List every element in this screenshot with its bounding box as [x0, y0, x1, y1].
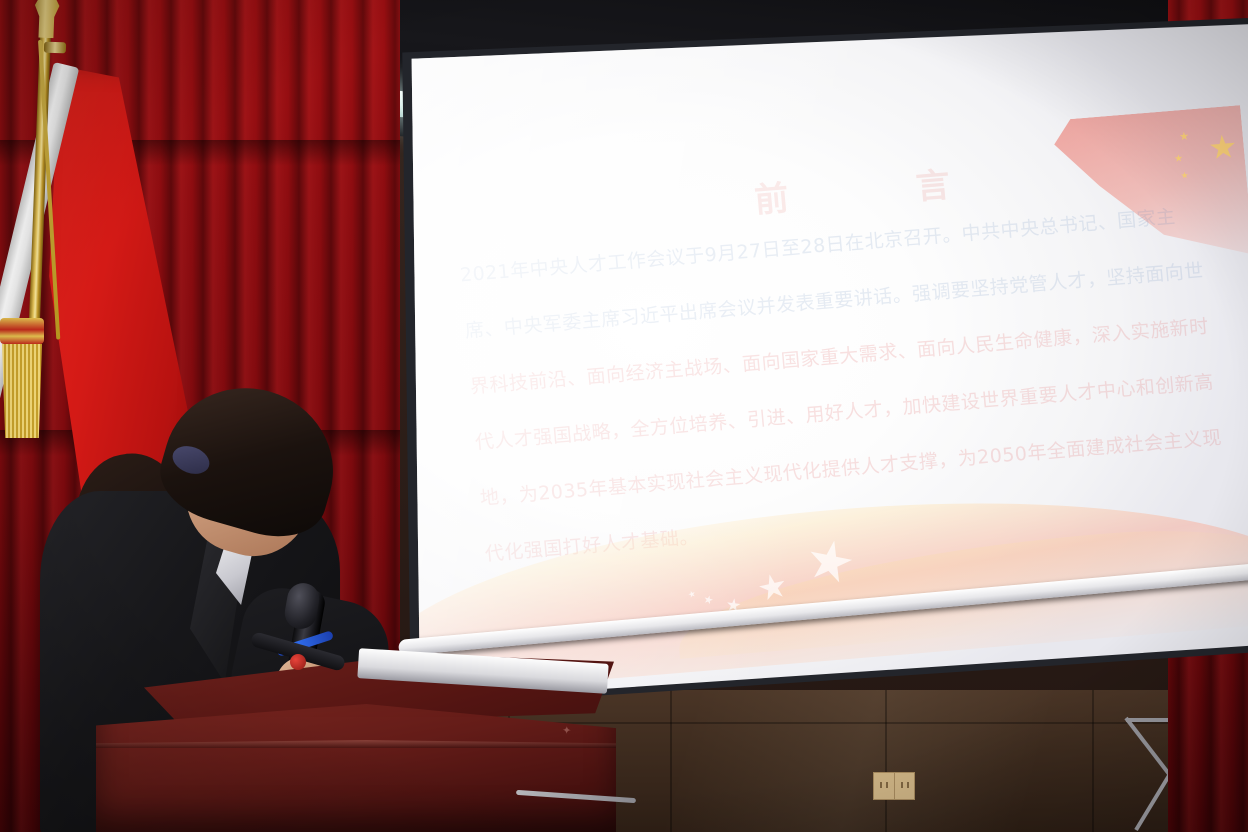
flag-finial-ring	[44, 42, 66, 54]
flag-star-small-icon	[1174, 154, 1183, 163]
podium-emblem: ✦	[562, 724, 573, 738]
panel-seam-vertical	[670, 690, 672, 832]
tassel-skirt	[2, 344, 42, 438]
podium-front-panel	[96, 704, 616, 832]
wooden-podium: ✦	[96, 648, 616, 832]
panel-seam-vertical	[1092, 690, 1094, 832]
tassel-head	[0, 318, 44, 344]
flag-star-large-icon	[1209, 134, 1237, 162]
flag-tassel	[0, 318, 44, 438]
outlet-socket-left	[874, 773, 895, 799]
outlet-socket-right	[895, 773, 915, 799]
microphone-indicator-light	[290, 654, 306, 670]
projector-screen: 前 言 2021年中央人才工作会议于9月27日至28日在北京召开。中共中央总书记…	[398, 18, 1248, 708]
wall-power-outlet[interactable]	[873, 772, 915, 800]
photo-stage: 前 言 2021年中央人才工作会议于9月27日至28日在北京召开。中共中央总书记…	[0, 0, 1248, 832]
panel-seam-vertical	[885, 690, 887, 832]
flag-star-small-icon	[1179, 131, 1189, 141]
flag-star-small-icon	[1181, 172, 1189, 180]
